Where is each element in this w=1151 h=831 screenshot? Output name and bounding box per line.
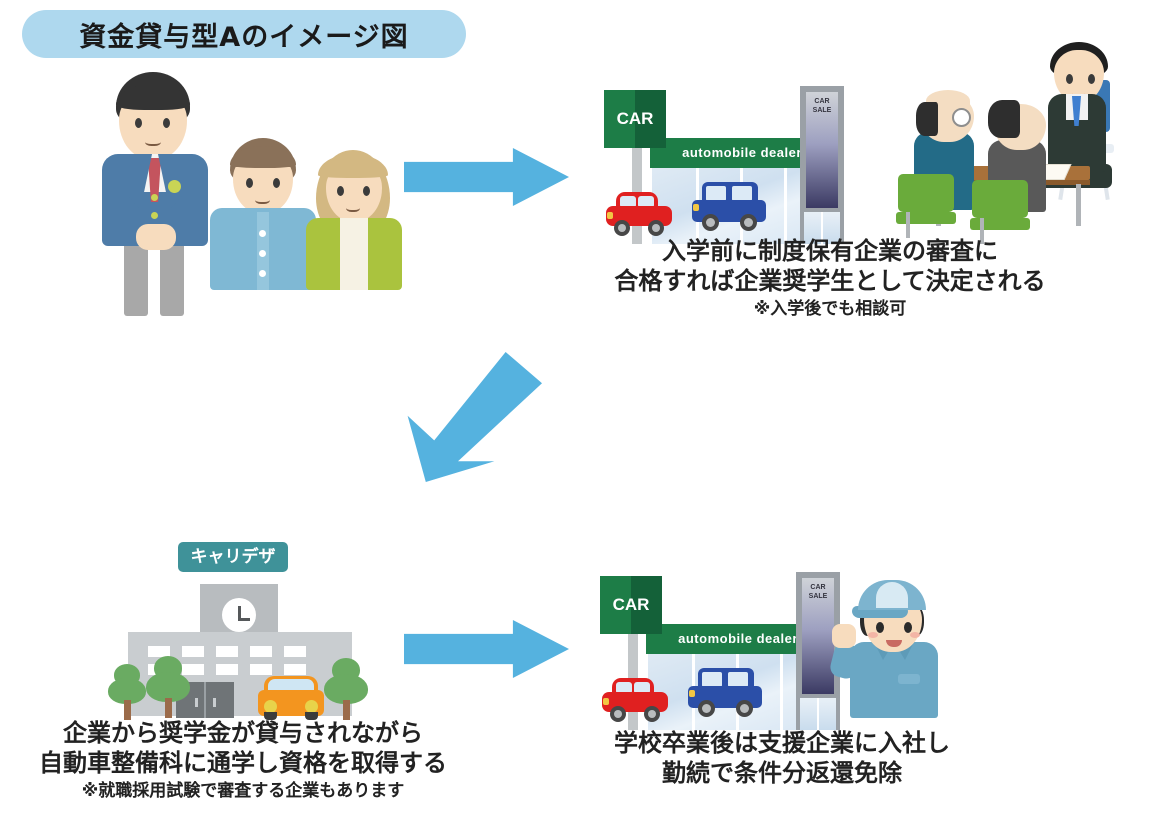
interview-desk-leg-right xyxy=(1076,184,1081,226)
caption-step2-note: ※入学後でも相談可 xyxy=(600,298,1060,320)
school-clock-hand-minute xyxy=(238,618,250,621)
blue-suv-wheel-front-top xyxy=(702,214,719,231)
school-window xyxy=(284,664,306,675)
school-tree xyxy=(322,658,370,720)
dealer-mullion-3-top xyxy=(784,168,787,244)
dealer-blue-suv-bottom xyxy=(688,668,762,720)
applicant-eye-right-icon xyxy=(1088,74,1095,84)
dealer-tower-label-top: CAR SALE xyxy=(806,98,838,116)
dealer-blue-suv-top xyxy=(692,182,766,234)
caption-step4-line1: 学校卒業後は支援企業に入社し xyxy=(562,728,1002,758)
student-eye-left-icon xyxy=(135,118,142,128)
mechanic-eye-right-icon xyxy=(904,622,912,633)
dealer-red-sedan-bottom xyxy=(602,676,668,720)
school-gate-divider xyxy=(204,682,206,718)
dealer-entrance-mullion-bottom xyxy=(817,698,819,730)
mechanic-fist xyxy=(832,624,856,648)
father-button-1 xyxy=(259,230,266,237)
illustration-mechanic xyxy=(826,566,946,718)
dealer-car-sign-top: CAR xyxy=(604,90,666,148)
caption-step2: 入学前に制度保有企業の審査に 合格すれば企業奨学生として決定される ※入学後でも… xyxy=(600,236,1060,321)
father-button-2 xyxy=(259,250,266,257)
dealer-car-sign-label-bottom: CAR xyxy=(600,576,662,634)
mother-inner-top xyxy=(340,218,368,290)
interviewer-senior-glasses-icon xyxy=(952,108,971,127)
student-button-2 xyxy=(151,212,158,219)
blue-suv-wheel-rear-top xyxy=(740,214,757,231)
dealer-car-sign-bottom: CAR xyxy=(600,576,662,634)
arrow-right-top xyxy=(404,148,569,206)
father-button-3 xyxy=(259,270,266,277)
tree-trunk xyxy=(124,700,131,720)
student-mouth-icon xyxy=(145,136,161,146)
caption-step3-line1: 企業から奨学金が貸与されながら xyxy=(28,718,458,748)
student-button-1 xyxy=(151,194,158,201)
arrow-right-bottom xyxy=(404,620,569,678)
illustration-dealership-bottom: automobile dealer CAR CAR SALE xyxy=(596,558,852,718)
mechanic-uniform xyxy=(850,642,938,718)
father-mouth-icon xyxy=(255,194,270,204)
school-sign: キャリデザ xyxy=(178,542,288,572)
blue-suv-window-front-top xyxy=(706,186,726,201)
infographic-canvas: 資金貸与型Aのイメージ図 xyxy=(0,0,1151,831)
school-gate-handle-left xyxy=(195,698,198,707)
interviewer-second-chair-back xyxy=(972,180,1028,218)
red-sedan-wheel-front-bottom xyxy=(610,706,626,722)
illustration-interview xyxy=(890,24,1140,240)
student-leg-left xyxy=(124,242,148,316)
student-badge-icon xyxy=(168,180,181,193)
dealer-car-sign-label-top: CAR xyxy=(604,90,666,148)
interviewer-senior-chair-seat xyxy=(896,212,956,224)
interviewer-senior-hair-icon xyxy=(916,102,938,136)
caption-step4-line2: 勤続で条件分返還免除 xyxy=(562,758,1002,788)
red-sedan-wheel-front-top xyxy=(614,220,630,236)
illustration-student-and-parents xyxy=(92,72,392,312)
student-eye-right-icon xyxy=(163,118,170,128)
mechanic-cheek-left xyxy=(868,632,878,638)
red-sedan-wheel-rear-top xyxy=(648,220,664,236)
mechanic-eye-left-icon xyxy=(876,622,884,633)
school-sign-label: キャリデザ xyxy=(178,542,288,572)
mother-mouth-icon xyxy=(346,202,360,212)
caption-step3: 企業から奨学金が貸与されながら 自動車整備科に通学し資格を取得する ※就職採用試… xyxy=(28,718,458,803)
blue-suv-headlight-bottom xyxy=(689,690,695,697)
mechanic-pocket xyxy=(898,674,920,684)
interviewer-second-hair-icon xyxy=(988,100,1020,138)
interviewer-senior-chair-leg xyxy=(906,212,910,238)
blue-suv-window-front-bottom xyxy=(702,672,722,687)
tree-trunk xyxy=(343,700,350,720)
student-leg-right xyxy=(160,242,184,316)
page-title: 資金貸与型Aのイメージ図 xyxy=(79,15,408,54)
blue-suv-wheel-front-bottom xyxy=(698,700,715,717)
applicant-eye-left-icon xyxy=(1066,74,1073,84)
blue-suv-window-rear-top xyxy=(732,186,752,201)
school-window xyxy=(216,646,238,657)
red-sedan-headlight-top xyxy=(607,212,613,219)
dealer-mullion-3-bottom xyxy=(780,654,783,730)
interviewer-second-chair-seat xyxy=(970,218,1030,230)
arrow-diagonal-down-left xyxy=(402,352,542,482)
student-hands xyxy=(136,224,176,250)
blue-suv-window-rear-bottom xyxy=(728,672,748,687)
school-window xyxy=(216,664,238,675)
interviewer-senior-chair-back xyxy=(898,174,954,212)
blue-suv-headlight-top xyxy=(693,204,699,211)
caption-step2-line2: 合格すれば企業奨学生として決定される xyxy=(600,266,1060,296)
school-window xyxy=(250,664,272,675)
school-window xyxy=(284,646,306,657)
caption-step3-note: ※就職採用試験で審査する企業もあります xyxy=(28,780,458,802)
illustration-dealership-top: automobile dealer CAR CAR SALE xyxy=(600,72,856,248)
dealer-tower-label-line2-top: SALE xyxy=(806,107,838,116)
caption-step2-line1: 入学前に制度保有企業の審査に xyxy=(600,236,1060,266)
blue-suv-wheel-rear-bottom xyxy=(736,700,753,717)
caption-step3-line2: 自動車整備科に通学し資格を取得する xyxy=(28,748,458,778)
school-tree xyxy=(144,656,192,720)
red-sedan-headlight-bottom xyxy=(603,698,609,705)
school-gate-handle-right xyxy=(213,698,216,707)
mother-fringe-icon xyxy=(318,154,388,178)
mother-eye-left-icon xyxy=(337,186,344,196)
dealer-tower-label-line1-top: CAR xyxy=(806,98,838,107)
school-window xyxy=(250,646,272,657)
mechanic-cheek-right xyxy=(910,632,920,638)
mother-eye-right-icon xyxy=(363,186,370,196)
tree-trunk xyxy=(165,698,172,718)
page-title-pill: 資金貸与型Aのイメージ図 xyxy=(22,10,466,58)
father-eye-left-icon xyxy=(246,178,253,188)
school-tree xyxy=(106,664,148,720)
mechanic-cap-panel xyxy=(876,582,908,608)
caption-step4: 学校卒業後は支援企業に入社し 勤続で条件分返還免除 xyxy=(562,728,1002,788)
red-sedan-wheel-rear-bottom xyxy=(644,706,660,722)
illustration-vocational-school: キャリデザ xyxy=(106,536,396,722)
dealer-red-sedan-top xyxy=(606,190,672,234)
father-eye-right-icon xyxy=(273,178,280,188)
school-orange-car xyxy=(258,676,324,720)
